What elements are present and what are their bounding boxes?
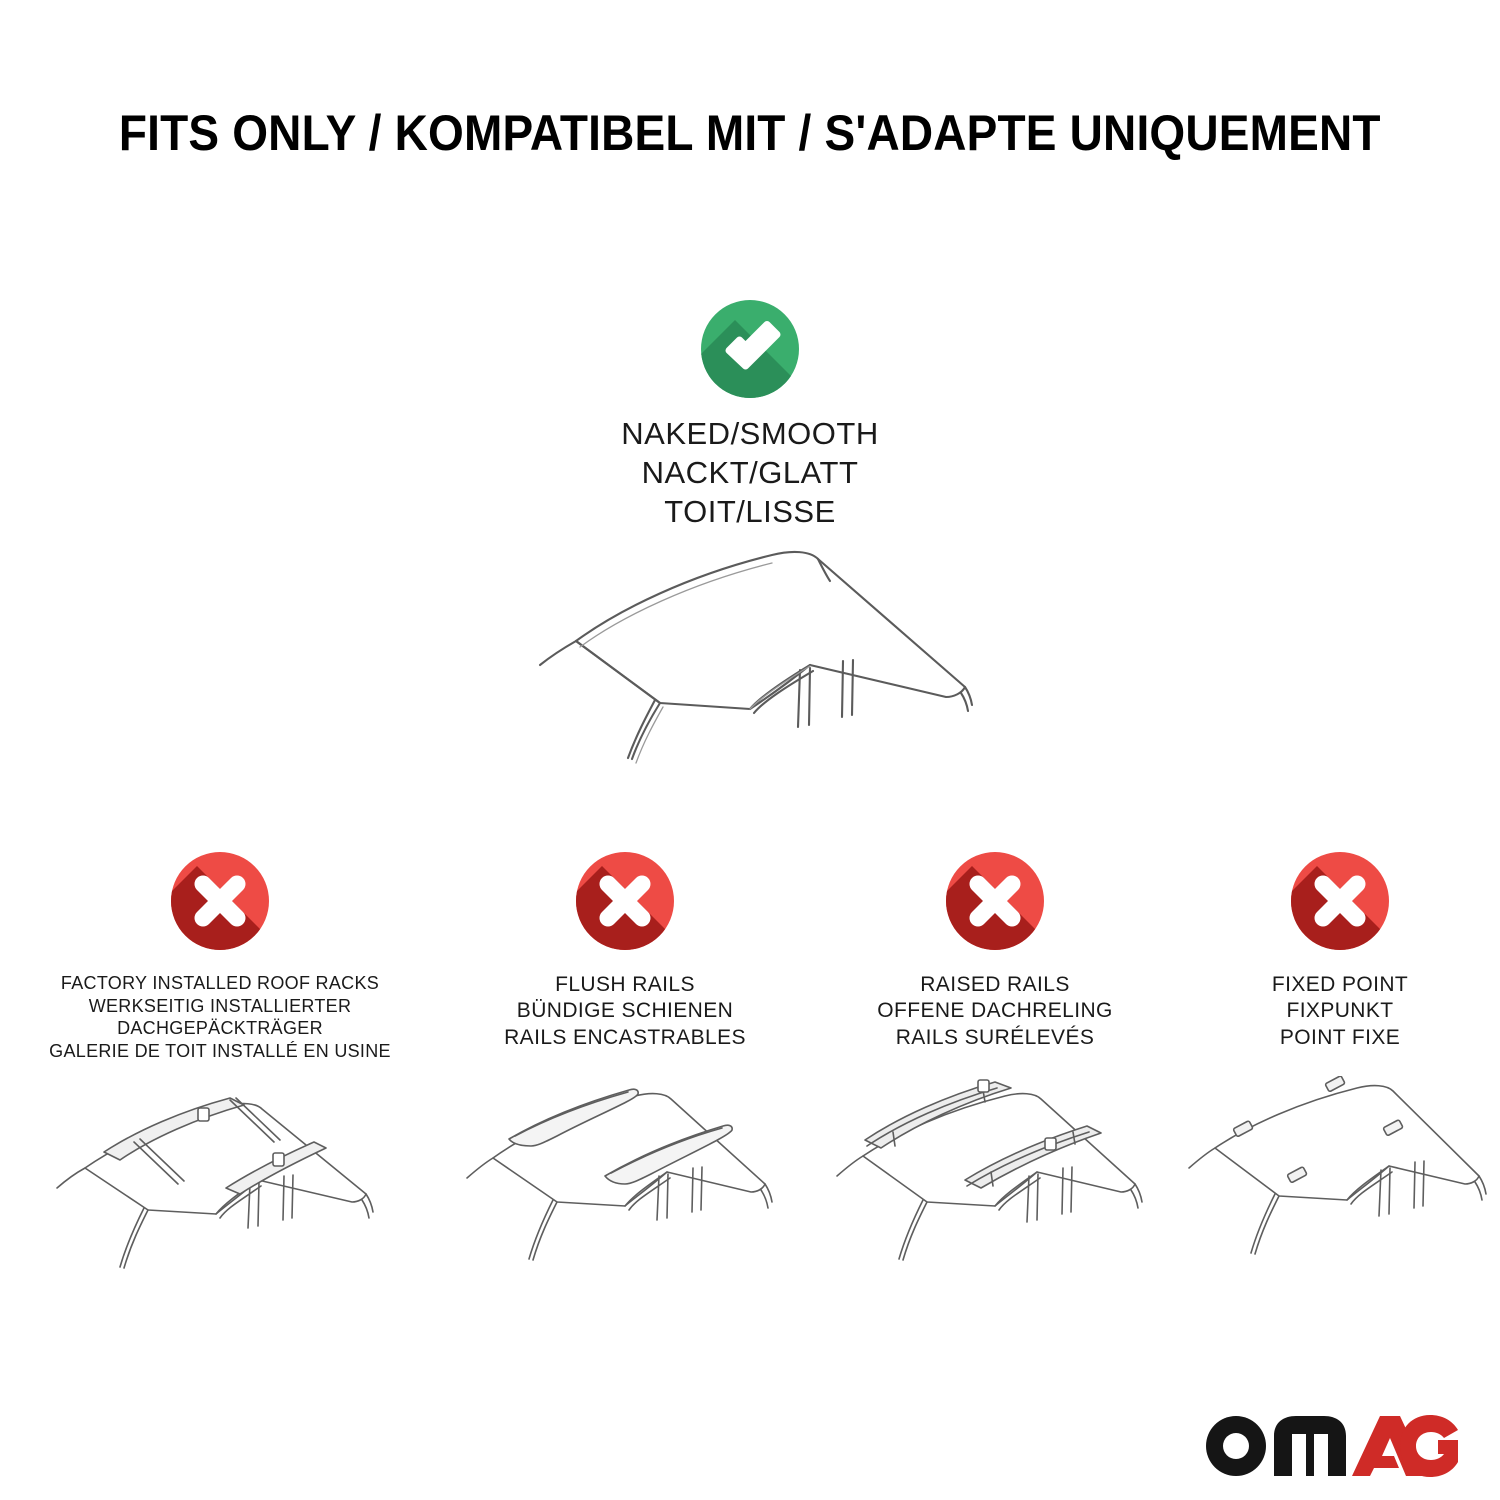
fits-section: NAKED/SMOOTH NACKT/GLATT TOIT/LISSE	[0, 300, 1500, 812]
fits-label-de: NACKT/GLATT	[621, 453, 878, 492]
label-en: FACTORY INSTALLED ROOF RACKS	[49, 972, 391, 995]
fits-label-en: NAKED/SMOOTH	[621, 414, 878, 453]
not-fits-section: FACTORY INSTALLED ROOF RACKS WERKSEITIG …	[0, 852, 1500, 1311]
label-de: OFFENE DACHRELING	[877, 998, 1113, 1024]
car-roof-flush-rails-illustration	[445, 1076, 805, 1311]
not-fits-item-fixed-point: FIXED POINT FIXPUNKT POINT FIXE	[1180, 852, 1500, 1311]
label-en: FIXED POINT	[1272, 972, 1408, 998]
fits-label-fr: TOIT/LISSE	[621, 492, 878, 531]
label-de: BÜNDIGE SCHIENEN	[504, 998, 746, 1024]
omac-logo	[1200, 1406, 1460, 1482]
label-de-2: DACHGEPÄCKTRÄGER	[49, 1017, 391, 1040]
label-fr: GALERIE DE TOIT INSTALLÉ EN USINE	[49, 1040, 391, 1063]
not-fits-caption: FLUSH RAILS BÜNDIGE SCHIENEN RAILS ENCAS…	[504, 972, 746, 1068]
not-fits-caption: FIXED POINT FIXPUNKT POINT FIXE	[1272, 972, 1408, 1068]
fits-caption: NAKED/SMOOTH NACKT/GLATT TOIT/LISSE	[621, 414, 878, 531]
not-fits-item-raised-rails: RAISED RAILS OFFENE DACHRELING RAILS SUR…	[810, 852, 1180, 1311]
car-roof-naked-smooth-illustration	[510, 537, 990, 812]
car-roof-fixed-point-illustration	[1175, 1076, 1500, 1311]
x-circle-icon	[946, 852, 1044, 950]
check-circle-icon	[701, 300, 799, 398]
not-fits-caption: RAISED RAILS OFFENE DACHRELING RAILS SUR…	[877, 972, 1113, 1068]
not-fits-item-factory-installed-roof-racks: FACTORY INSTALLED ROOF RACKS WERKSEITIG …	[0, 852, 440, 1311]
page-title-text: FITS ONLY / KOMPATIBEL MIT / S'ADAPTE UN…	[119, 104, 1381, 162]
not-fits-caption: FACTORY INSTALLED ROOF RACKS WERKSEITIG …	[49, 972, 391, 1068]
label-en: FLUSH RAILS	[504, 972, 746, 998]
label-fr: POINT FIXE	[1272, 1025, 1408, 1051]
car-roof-factory-rack-illustration	[30, 1076, 410, 1311]
page-title: FITS ONLY / KOMPATIBEL MIT / S'ADAPTE UN…	[0, 104, 1500, 162]
x-circle-icon	[576, 852, 674, 950]
label-de-1: WERKSEITIG INSTALLIERTER	[49, 995, 391, 1018]
label-en: RAISED RAILS	[877, 972, 1113, 998]
label-de: FIXPUNKT	[1272, 998, 1408, 1024]
car-roof-raised-rails-illustration	[815, 1076, 1175, 1311]
x-circle-icon	[171, 852, 269, 950]
not-fits-item-flush-rails: FLUSH RAILS BÜNDIGE SCHIENEN RAILS ENCAS…	[440, 852, 810, 1311]
x-circle-icon	[1291, 852, 1389, 950]
label-fr: RAILS ENCASTRABLES	[504, 1025, 746, 1051]
label-fr: RAILS SURÉLEVÉS	[877, 1025, 1113, 1051]
